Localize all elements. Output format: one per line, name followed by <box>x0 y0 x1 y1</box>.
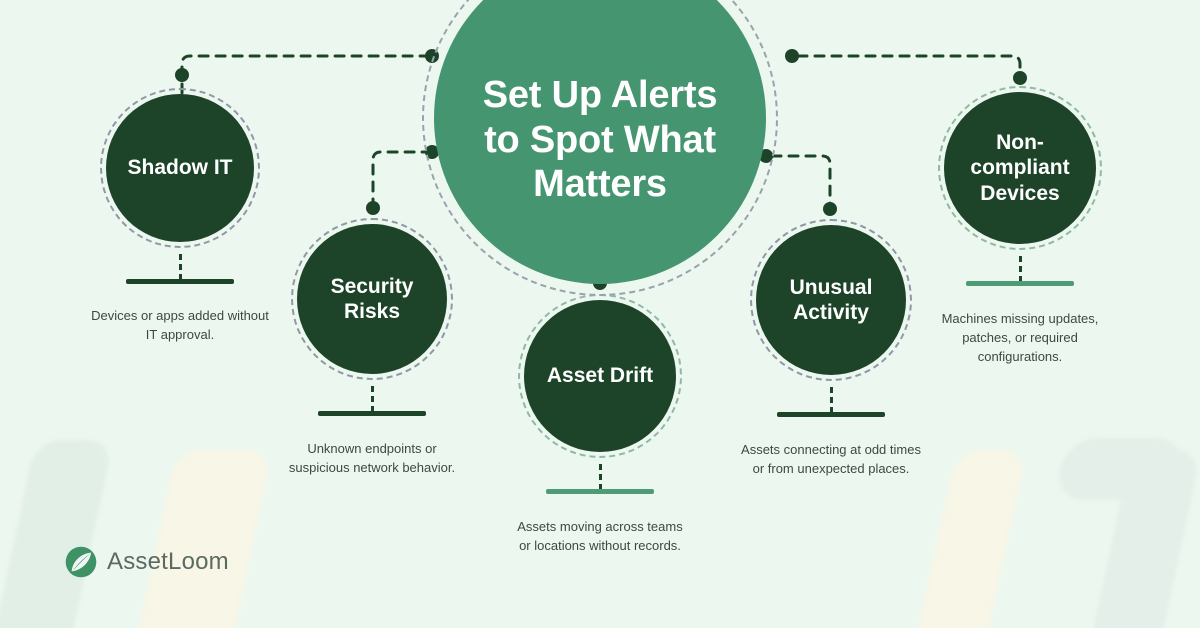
node-stem <box>371 386 374 412</box>
background-stripe <box>1078 450 1200 628</box>
node-circle: Security Risks <box>297 224 447 374</box>
node-stem <box>599 464 602 490</box>
node-stem <box>830 387 833 413</box>
node-rule <box>318 411 426 416</box>
node-circle: Unusual Activity <box>756 225 906 375</box>
node-circle: Non-compliant Devices <box>944 92 1096 244</box>
node-label: Shadow IT <box>114 155 247 180</box>
node-caption: Assets connecting at odd times or from u… <box>739 441 923 479</box>
node-shadow-it[interactable]: Shadow IT Devices or apps added without … <box>100 88 260 248</box>
node-rule <box>777 412 885 417</box>
node-label: Asset Drift <box>533 363 667 388</box>
node-label: Non-compliant Devices <box>944 130 1096 206</box>
connector-security-risks <box>373 152 428 208</box>
page-title: Set Up Alerts to Spot What Matters <box>460 29 740 207</box>
node-circle: Shadow IT <box>106 94 254 242</box>
node-caption: Unknown endpoints or suspicious network … <box>282 440 462 478</box>
node-label: Security Risks <box>297 274 447 324</box>
background-stripe <box>123 450 272 628</box>
background-stripe <box>0 440 114 628</box>
node-label: Unusual Activity <box>756 275 906 325</box>
node-stem <box>1019 256 1022 282</box>
brand-logo[interactable]: AssetLoom <box>64 545 229 579</box>
node-caption: Machines missing updates, patches, or re… <box>922 310 1118 367</box>
node-rule <box>966 281 1074 286</box>
background-stripe <box>1053 438 1186 500</box>
connector-unusual-activity <box>772 156 830 206</box>
node-caption: Devices or apps added without IT approva… <box>90 307 270 345</box>
node-circle: Asset Drift <box>524 300 676 452</box>
node-rule <box>546 489 654 494</box>
node-stem <box>179 254 182 280</box>
node-non-compliant-devices[interactable]: Non-compliant Devices Machines missing u… <box>938 86 1102 250</box>
infographic-canvas: Set Up Alerts to Spot What Matters Shado… <box>0 0 1200 628</box>
leaf-swoosh-icon <box>64 545 98 579</box>
node-asset-drift[interactable]: Asset Drift Assets moving across teams o… <box>518 294 682 458</box>
connector-non-compliant <box>798 56 1020 74</box>
node-security-risks[interactable]: Security Risks Unknown endpoints or susp… <box>291 218 453 380</box>
brand-name: AssetLoom <box>107 548 229 576</box>
node-caption: Assets moving across teams or locations … <box>510 518 690 556</box>
node-unusual-activity[interactable]: Unusual Activity Assets connecting at od… <box>750 219 912 381</box>
node-rule <box>126 279 234 284</box>
